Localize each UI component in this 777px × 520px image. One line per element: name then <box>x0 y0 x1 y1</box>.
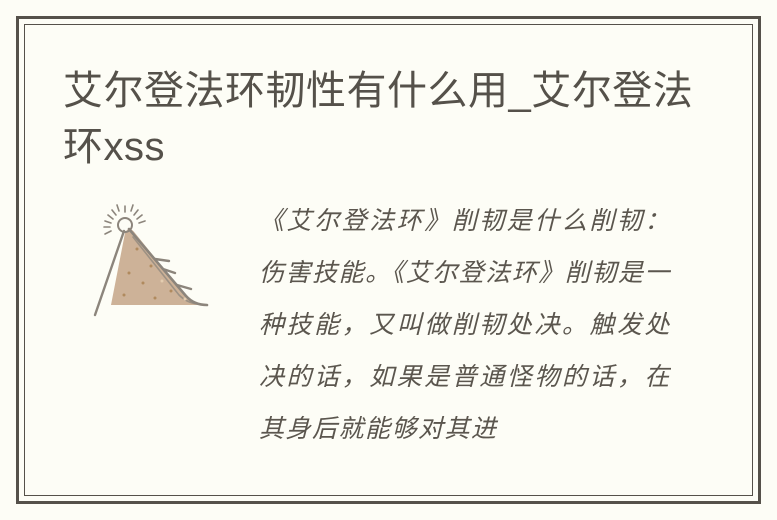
sand-dune-with-sun-icon <box>67 203 227 323</box>
article-card: 艾尔登法环韧性有什么用_艾尔登法环xss <box>16 16 761 504</box>
page-title: 艾尔登法环韧性有什么用_艾尔登法环xss <box>63 63 703 175</box>
article-body-text: 《艾尔登法环》削韧是什么削韧：伤害技能。《艾尔登法环》削韧是一种技能，又叫做削韧… <box>259 195 671 455</box>
article-content: 《艾尔登法环》削韧是什么削韧：伤害技能。《艾尔登法环》削韧是一种技能，又叫做削韧… <box>25 195 752 485</box>
article-card-inner-border: 艾尔登法环韧性有什么用_艾尔登法环xss <box>24 24 753 496</box>
